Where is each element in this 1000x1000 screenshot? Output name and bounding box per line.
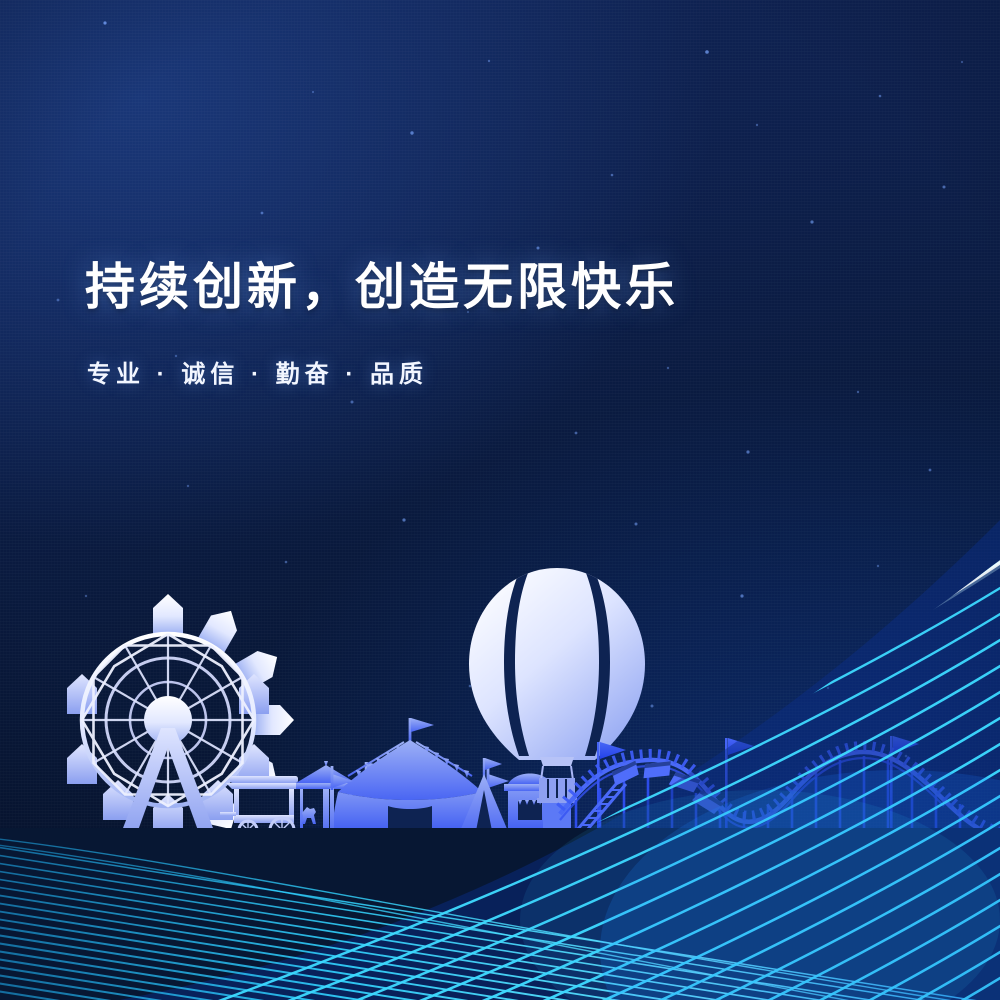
glowing-wave-mesh	[0, 0, 1000, 1000]
poster-canvas: 持续创新，创造无限快乐 专业 · 诚信 · 勤奋 · 品质	[0, 0, 1000, 1000]
hero-copy: 持续创新，创造无限快乐 专业 · 诚信 · 勤奋 · 品质	[85, 258, 679, 389]
page-subtitle: 专业 · 诚信 · 勤奋 · 品质	[87, 354, 679, 389]
page-title: 持续创新，创造无限快乐	[85, 258, 679, 316]
